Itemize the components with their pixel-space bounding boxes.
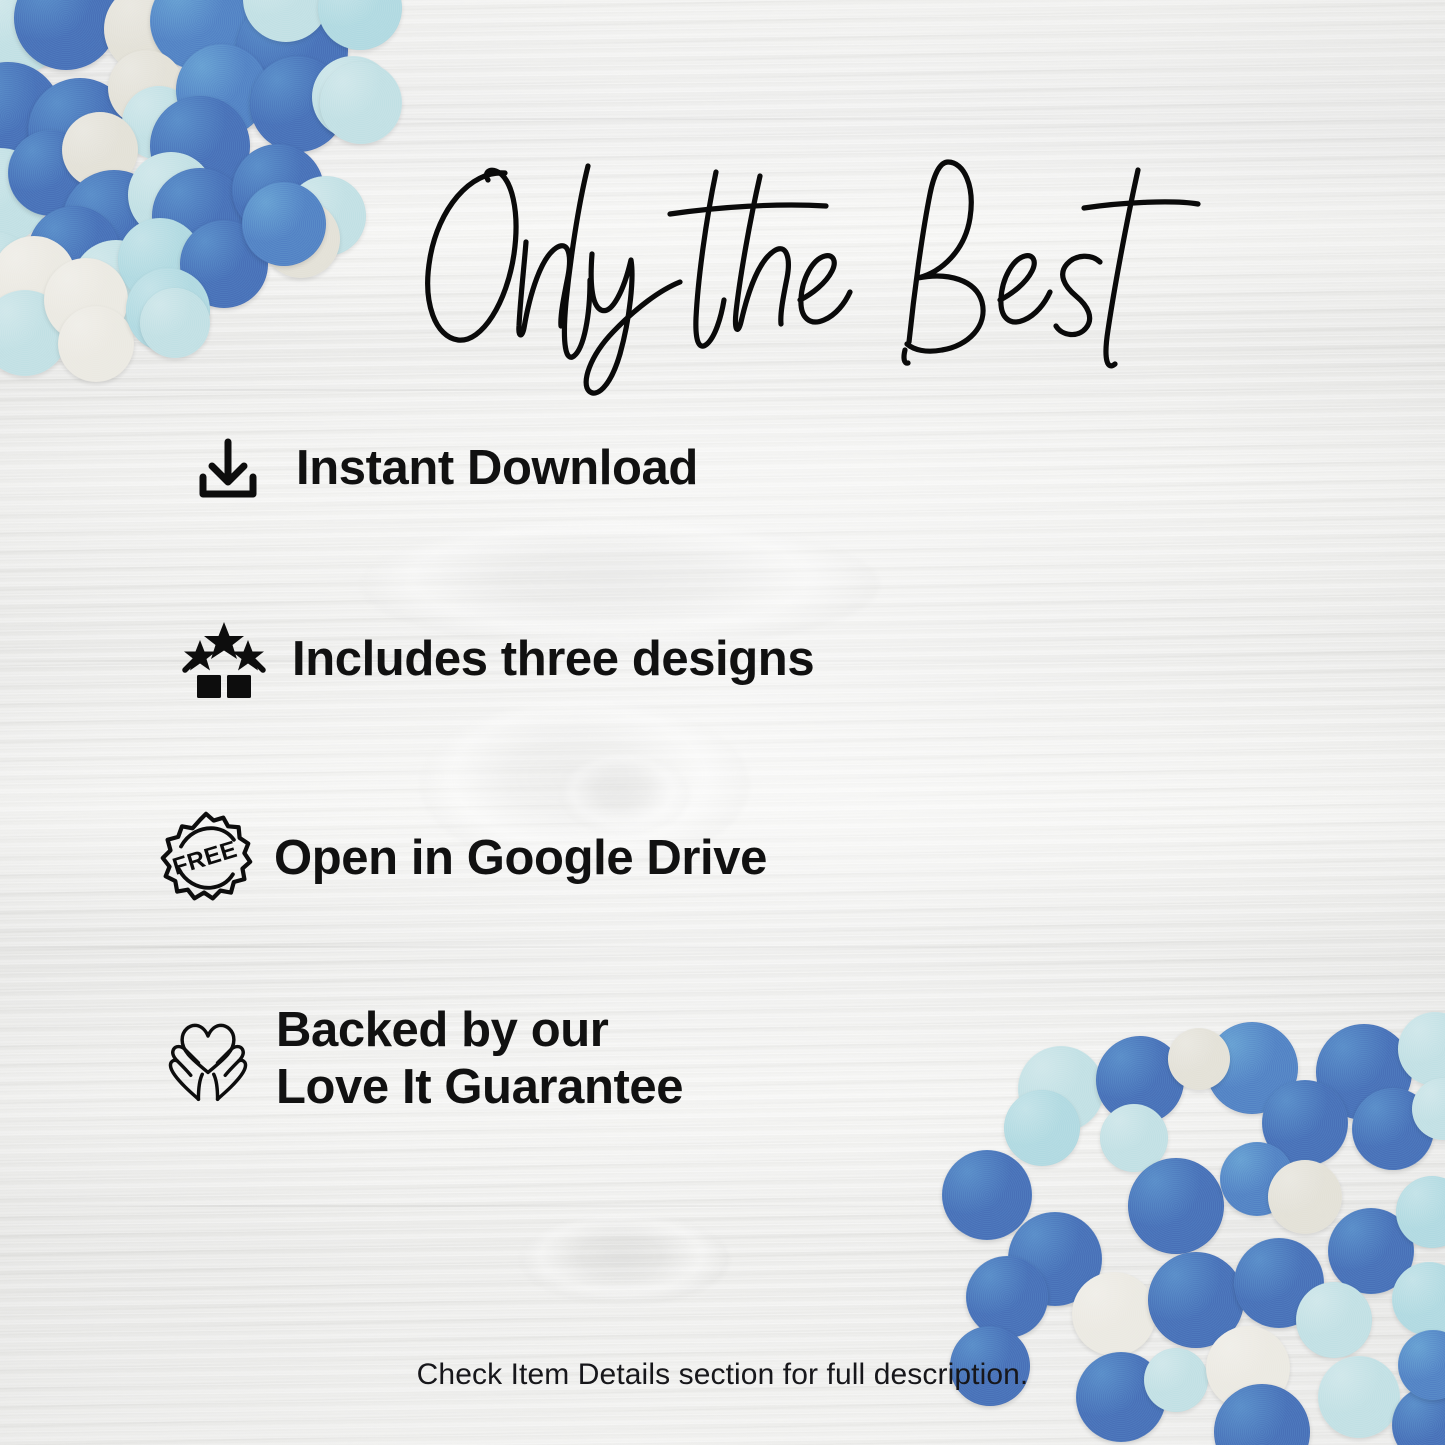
feature-label: Instant Download [296,440,698,497]
feature-label: Open in Google Drive [274,830,767,887]
free-badge-icon: FREE [160,810,252,906]
download-icon [182,432,274,504]
wood-knot [520,1215,730,1305]
feature-label: Includes three designs [292,631,814,688]
plank-seam [0,946,1445,948]
feature-row-includes-three-designs: Includes three designs [178,618,814,700]
feature-label: Backed by our Love It Guarantee [276,1002,683,1116]
feature-row-open-in-google-drive: FREE Open in Google Drive [160,810,767,906]
promo-graphic: Instant Download [0,0,1445,1445]
gift-box-stars-icon [178,618,270,700]
footnote-text: Check Item Details section for full desc… [0,1358,1445,1392]
feature-row-love-it-guarantee: Backed by our Love It Guarantee [162,1002,683,1116]
free-badge-text: FREE [169,836,240,881]
page-title [408,150,1168,400]
feature-row-instant-download: Instant Download [182,432,698,504]
plank-seam [0,118,1445,120]
hands-holding-heart-icon [162,1013,254,1105]
plank-seam [0,1205,1445,1207]
